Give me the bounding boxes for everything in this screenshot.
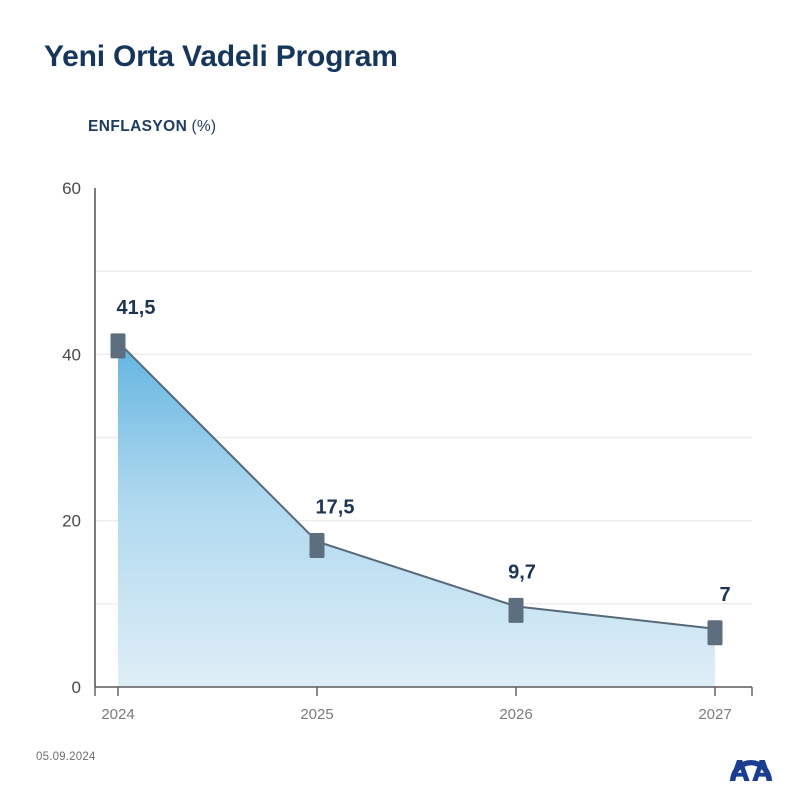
y-axis-tick-label: 20 [62, 512, 81, 531]
x-axis-tick-label: 2024 [101, 706, 134, 723]
chart-area-fill [118, 342, 715, 687]
data-point-label: 17,5 [316, 496, 355, 518]
data-point-label: 7 [719, 584, 730, 606]
chart-plot-area: 0204060 2024202520262027 41,517,59,77 [0, 0, 800, 800]
y-axis-tick-label: 40 [62, 345, 81, 364]
data-point-marker [509, 598, 524, 623]
data-point-marker [310, 533, 325, 558]
data-point-label: 41,5 [117, 297, 156, 319]
data-point-marker [111, 333, 126, 358]
y-axis-tick-label: 0 [72, 678, 81, 697]
data-point-marker [708, 620, 723, 645]
x-axis-tick-label: 2027 [698, 706, 731, 723]
x-axis-tick-label: 2025 [300, 706, 333, 723]
infographic-root: Yeni Orta Vadeli Program ENFLASYON (%) 0… [0, 0, 800, 800]
x-axis-tick-label: 2026 [499, 706, 532, 723]
publication-date: 05.09.2024 [36, 751, 96, 763]
chart-svg: 0204060 2024202520262027 41,517,59,77 [0, 0, 800, 800]
chart-y-axis-labels: 0204060 [62, 179, 81, 697]
chart-x-axis-labels: 2024202520262027 [101, 706, 731, 723]
y-axis-tick-label: 60 [62, 179, 81, 198]
area-fill-path [118, 342, 715, 687]
aa-anadolu-agency-logo [726, 748, 776, 790]
data-point-label: 9,7 [508, 561, 536, 583]
chart-x-axis-ticks [95, 687, 752, 696]
